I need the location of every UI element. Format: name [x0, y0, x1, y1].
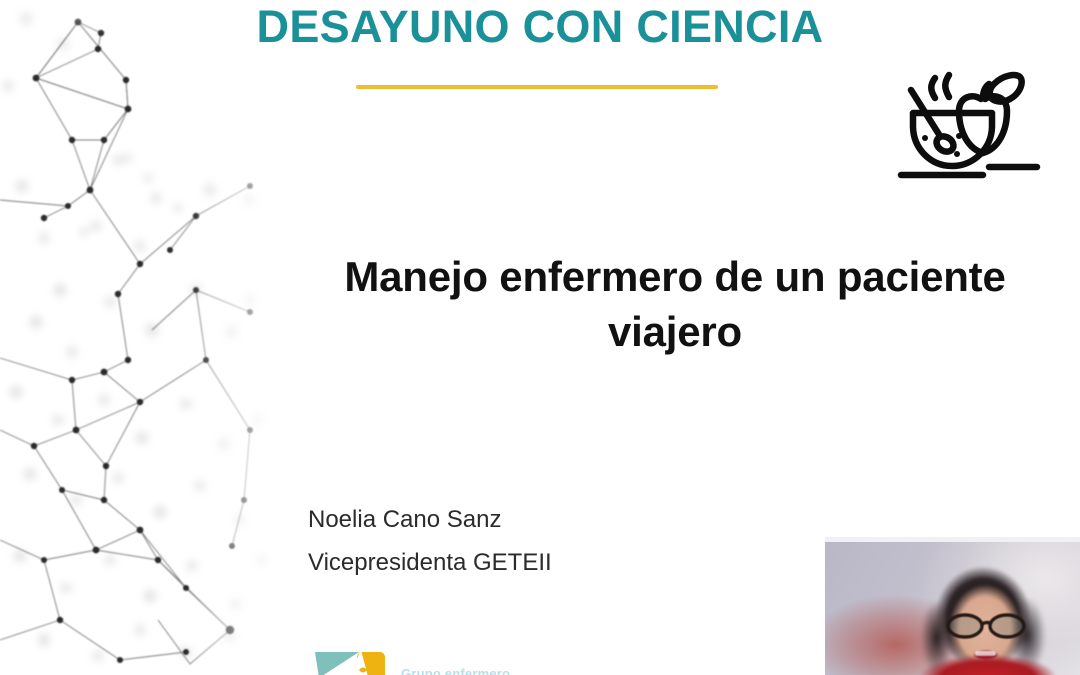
network-nodes-graphic — [0, 0, 300, 675]
slide-main-title: Manejo enfermero de un paciente viajero — [290, 249, 1060, 360]
presenter-block: Noelia Cano Sanz Vicepresidenta GETEII — [308, 508, 768, 575]
webcam-garment — [913, 653, 1063, 675]
webcam-glasses — [943, 613, 1029, 639]
presentation-slide: DESAYUNO CON CIENCIA — [0, 0, 1080, 675]
breakfast-coffee-apple-icon — [897, 62, 1045, 184]
presenter-webcam-feed[interactable] — [825, 537, 1080, 675]
header-accent-rule — [356, 85, 718, 89]
webcam-video-surface — [825, 537, 1080, 675]
geteii-logo-mark — [313, 648, 391, 675]
webcam-top-edge — [825, 537, 1080, 542]
presenter-name: Noelia Cano Sanz — [308, 508, 768, 532]
footer-logo-text: Grupo enfermero — [401, 666, 510, 675]
presenter-role: Vicepresidenta GETEII — [308, 551, 768, 575]
slide-header-title: DESAYUNO CON CIENCIA — [0, 4, 1080, 49]
footer-logo: Grupo enfermero — [313, 648, 573, 675]
